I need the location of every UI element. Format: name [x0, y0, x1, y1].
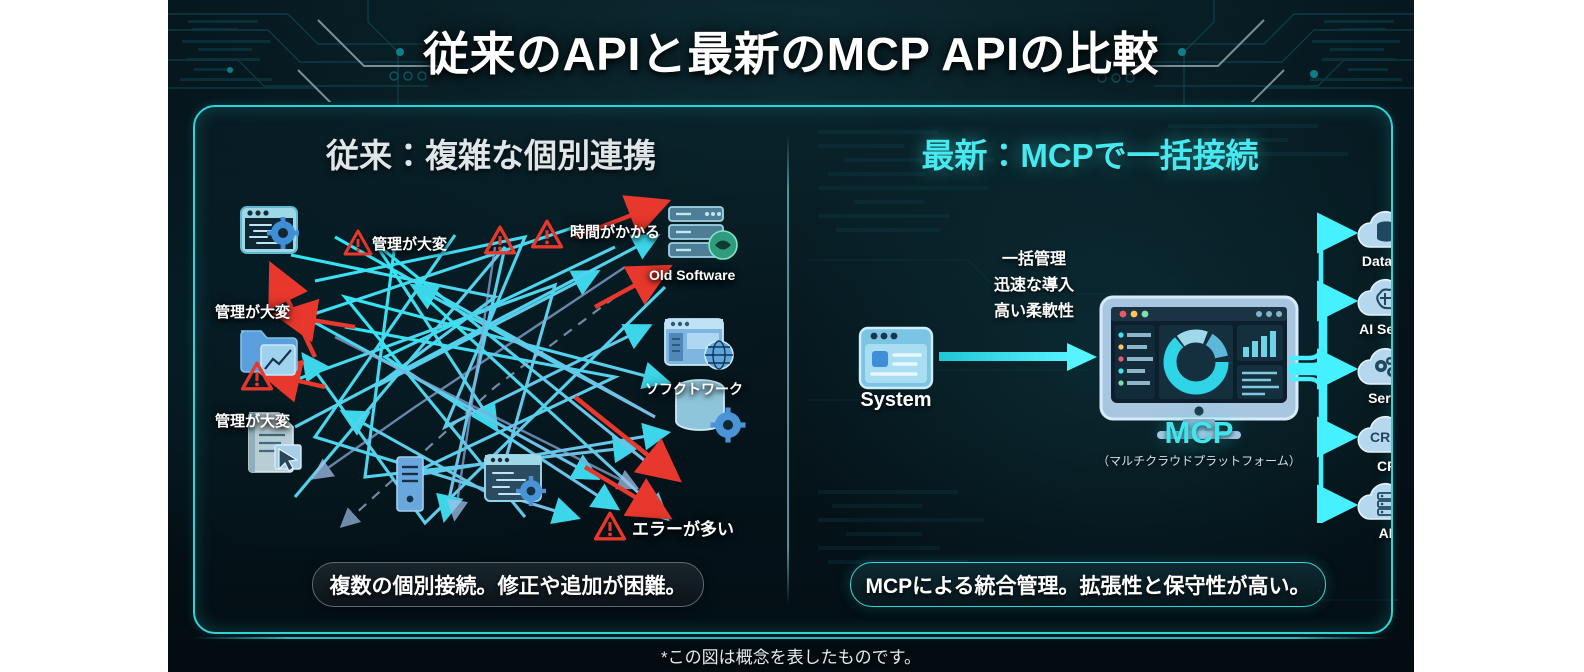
footer-rule	[193, 637, 1389, 639]
cloud-database-icon	[1354, 207, 1393, 253]
footnote: *この図は概念を表したものです。	[168, 643, 1414, 668]
mcp-side: 最新：MCPで一括接続 System 一括管理 迅速な導入 高い柔軟性	[789, 107, 1391, 632]
comparison-panel: 従来：複雑な個別連携	[193, 105, 1393, 634]
cloud-crm-icon: CRM	[1354, 412, 1393, 458]
warning-label-3: 管理が大変	[215, 301, 290, 322]
service-label-database: Database	[1323, 253, 1393, 269]
mcp-label: MCP	[1079, 415, 1319, 451]
warning-label-4: 管理が大変	[215, 410, 290, 431]
inbound-flow-arrow	[939, 339, 1099, 375]
cloud-ai-chip-icon	[1354, 275, 1393, 321]
node-label-old-software: Old Software	[649, 267, 735, 283]
service-label-crm: CRM	[1323, 458, 1393, 474]
code-window-gear-icon	[237, 203, 309, 265]
warning-label-1: 管理が大変	[372, 233, 447, 254]
tower-server-icon	[391, 453, 429, 515]
crm-badge-text: CRM	[1370, 429, 1393, 445]
cloud-server-icon	[1354, 479, 1393, 525]
content-canvas: 従来のAPIと最新のMCP APIの比較	[168, 0, 1414, 672]
legacy-api-side: 従来：複雑な個別連携	[195, 107, 787, 632]
mcp-heading: 最新：MCPで一括接続	[789, 129, 1391, 177]
browser-globe-icon	[661, 313, 741, 375]
page-title: 従来のAPIと最新のMCP APIの比較	[168, 18, 1414, 84]
cloud-gears-icon	[1354, 344, 1393, 390]
service-label-app: APP	[1323, 525, 1393, 541]
mcp-caption-pill: MCPによる統合管理。拡張性と保守性が高い。	[850, 562, 1326, 607]
app-window-icon	[854, 322, 938, 394]
warning-triangle-icon	[345, 229, 371, 253]
warning-label-2: 時間がかかる	[570, 221, 660, 242]
node-label-software-network: ソフクトワーク	[645, 379, 743, 399]
benefit-item: 一括管理	[949, 247, 1119, 273]
service-label-service: Service	[1323, 390, 1393, 406]
system-label: System	[811, 389, 981, 412]
legacy-caption-pill: 複数の個別接続。修正や追加が困難。	[312, 562, 704, 607]
service-label-ai-service: AI Service	[1323, 321, 1393, 337]
warning-label-5: エラーが多い	[632, 515, 734, 540]
legacy-heading: 従来：複雑な個別連携	[195, 129, 787, 177]
terminal-gear-icon	[481, 451, 557, 513]
infographic-root: 従来のAPIと最新のMCP APIの比較	[0, 0, 1584, 672]
legacy-server-icon	[665, 203, 745, 265]
